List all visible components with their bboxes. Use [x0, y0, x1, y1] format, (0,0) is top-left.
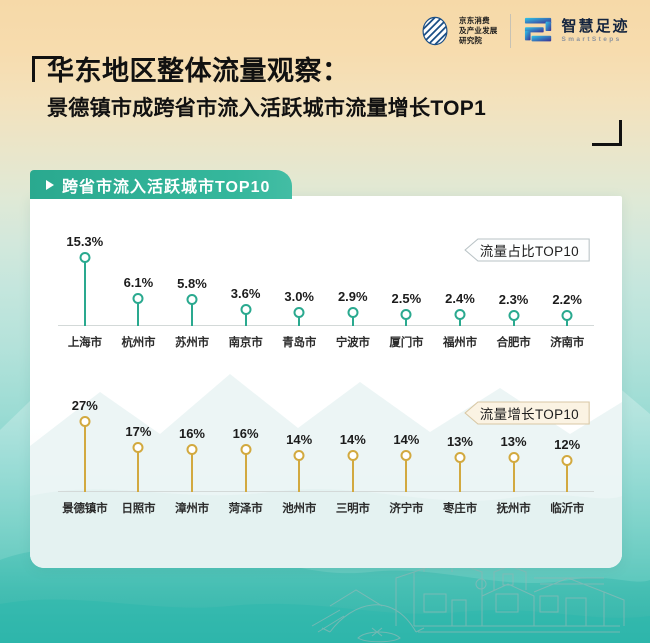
datapoint-value-label: 13% [501, 434, 527, 449]
section-header-tab: 跨省市流入活跃城市TOP10 [30, 170, 292, 199]
datapoint-value-label: 2.4% [445, 291, 475, 306]
lollipop-dot [133, 293, 144, 304]
datapoint-value-label: 2.9% [338, 289, 368, 304]
x-axis-city-label: 枣庄市 [433, 500, 487, 516]
x-axis-city-label: 三明市 [326, 500, 380, 516]
x-axis-city-label: 杭州市 [112, 334, 166, 350]
x-axis-city-label: 苏州市 [165, 334, 219, 350]
smartsteps-logo: 智慧足迹 SmartSteps [523, 16, 630, 46]
lollipop-stem [405, 456, 407, 492]
chart-2-x-labels: 景德镇市日照市漳州市菏泽市池州市三明市济宁市枣庄市抚州市临沂市 [58, 500, 594, 516]
jd-globe-icon [418, 14, 452, 48]
datapoint-value-label: 27% [72, 398, 98, 413]
lollipop-stem [352, 456, 354, 492]
lollipop-dot [508, 452, 519, 463]
x-axis-city-label: 青岛市 [272, 334, 326, 350]
x-axis-city-label: 上海市 [58, 334, 112, 350]
jd-logo-text-line3: 研究院 [459, 36, 498, 46]
x-axis-city-label: 福州市 [433, 334, 487, 350]
x-axis-city-label: 池州市 [272, 500, 326, 516]
chart-1-datapoint: 5.8% [165, 224, 219, 326]
lollipop-stem [191, 450, 193, 492]
datapoint-value-label: 6.1% [124, 275, 154, 290]
lollipop-dot [454, 452, 465, 463]
lollipop-stem [84, 422, 86, 492]
lollipop-dot [133, 442, 144, 453]
x-axis-city-label: 菏泽市 [219, 500, 273, 516]
chart-2-datapoint: 16% [165, 388, 219, 492]
datapoint-value-label: 3.0% [284, 289, 314, 304]
logo-divider [510, 14, 511, 48]
chart-1-datapoint: 3.0% [272, 224, 326, 326]
datapoint-value-label: 17% [125, 424, 151, 439]
badge-1-label: 流量占比TOP10 [480, 240, 579, 260]
jd-logo-text-line1: 京东消费 [459, 16, 498, 26]
badge-2-label: 流量增长TOP10 [480, 403, 579, 423]
lollipop-dot [294, 450, 305, 461]
lollipop-dot [186, 294, 197, 305]
badge-traffic-growth-top10: 流量增长TOP10 [464, 401, 590, 425]
lollipop-dot [401, 450, 412, 461]
datapoint-value-label: 12% [554, 437, 580, 452]
badge-traffic-share-top10: 流量占比TOP10 [464, 238, 590, 262]
datapoint-value-label: 2.3% [499, 292, 529, 307]
lollipop-dot [240, 444, 251, 455]
lollipop-dot [508, 310, 519, 321]
chart-2-datapoint: 27% [58, 388, 112, 492]
datapoint-value-label: 14% [340, 432, 366, 447]
charts-card: 流量占比TOP10 流量增长TOP10 15.3%6.1%5.8%3.6%3.0… [30, 196, 622, 568]
chart-1-datapoint: 15.3% [58, 224, 112, 326]
x-axis-city-label: 宁波市 [326, 334, 380, 350]
chart-1-datapoint: 2.9% [326, 224, 380, 326]
chart-1-x-labels: 上海市杭州市苏州市南京市青岛市宁波市厦门市福州市合肥市济南市 [58, 334, 594, 350]
x-axis-city-label: 济宁市 [380, 500, 434, 516]
x-axis-city-label: 景德镇市 [58, 500, 112, 516]
lollipop-dot [562, 455, 573, 466]
lollipop-stem [513, 458, 515, 492]
lollipop-dot [186, 444, 197, 455]
chart-1-datapoint: 6.1% [112, 224, 166, 326]
corner-bracket-bottom-right [592, 120, 622, 146]
datapoint-value-label: 3.6% [231, 286, 261, 301]
datapoint-value-label: 2.5% [392, 291, 422, 306]
section-tab-label: 跨省市流入活跃城市TOP10 [62, 173, 270, 197]
x-axis-city-label: 临沂市 [540, 500, 594, 516]
smartsteps-mark-icon [523, 16, 555, 46]
x-axis-city-label: 抚州市 [487, 500, 541, 516]
lollipop-dot [347, 450, 358, 461]
smartsteps-logo-cn: 智慧足迹 [562, 19, 630, 35]
x-axis-city-label: 济南市 [540, 334, 594, 350]
jd-logo-text-line2: 及产业发展 [459, 26, 498, 36]
chart-2-datapoint: 14% [380, 388, 434, 492]
chart-2-datapoint: 16% [219, 388, 273, 492]
lollipop-stem [84, 258, 86, 326]
play-triangle-icon [46, 180, 54, 190]
lollipop-stem [459, 458, 461, 492]
x-axis-city-label: 南京市 [219, 334, 273, 350]
datapoint-value-label: 13% [447, 434, 473, 449]
lollipop-dot [401, 309, 412, 320]
datapoint-value-label: 16% [233, 426, 259, 441]
datapoint-value-label: 2.2% [552, 292, 582, 307]
lollipop-stem [245, 450, 247, 492]
title-line-1: 华东地区整体流量观察： [30, 56, 622, 88]
x-axis-city-label: 漳州市 [165, 500, 219, 516]
lollipop-dot [240, 304, 251, 315]
datapoint-value-label: 16% [179, 426, 205, 441]
x-axis-city-label: 厦门市 [380, 334, 434, 350]
lollipop-dot [454, 309, 465, 320]
page-title: 华东地区整体流量观察： 景德镇市成跨省市流入活跃城市流量增长TOP1 [30, 56, 622, 122]
lollipop-dot [294, 307, 305, 318]
jd-research-institute-logo: 京东消费 及产业发展 研究院 [418, 14, 498, 48]
lollipop-dot [347, 307, 358, 318]
x-axis-city-label: 合肥市 [487, 334, 541, 350]
jd-logo-text: 京东消费 及产业发展 研究院 [459, 16, 498, 46]
datapoint-value-label: 5.8% [177, 276, 207, 291]
lollipop-dot [562, 310, 573, 321]
chart-1-datapoint: 3.6% [219, 224, 273, 326]
x-axis-city-label: 日照市 [112, 500, 166, 516]
lollipop-stem [137, 448, 139, 492]
chart-2-datapoint: 14% [326, 388, 380, 492]
chart-2-datapoint: 17% [112, 388, 166, 492]
datapoint-value-label: 15.3% [66, 234, 103, 249]
lollipop-stem [298, 456, 300, 492]
title-line-2: 景德镇市成跨省市流入活跃城市流量增长TOP1 [30, 97, 622, 122]
lollipop-dot [79, 416, 90, 427]
lollipop-dot [79, 252, 90, 263]
corner-bracket-top-left [32, 56, 62, 82]
smartsteps-logo-en: SmartSteps [562, 36, 630, 43]
chart-2-datapoint: 14% [272, 388, 326, 492]
datapoint-value-label: 14% [286, 432, 312, 447]
logo-bar: 京东消费 及产业发展 研究院 智慧足迹 SmartSteps [418, 14, 630, 48]
datapoint-value-label: 14% [393, 432, 419, 447]
chart-1-datapoint: 2.5% [380, 224, 434, 326]
